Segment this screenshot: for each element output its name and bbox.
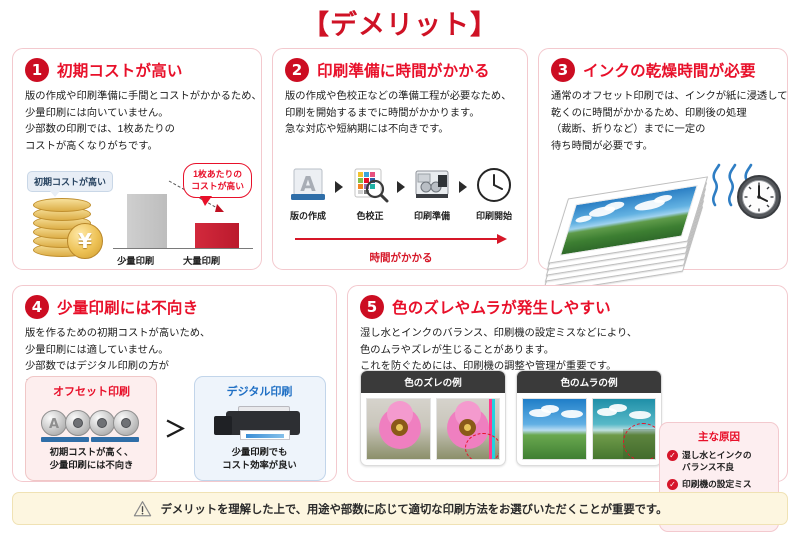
- wall-clock-icon: [735, 173, 783, 221]
- card-line: コスト効率が良い: [199, 459, 321, 472]
- panel-short-run: 4 少量印刷には不向き 版を作るための初期コストが高いため、 少量印刷には適して…: [12, 285, 337, 482]
- cause-line: 湿し水とインクの: [682, 449, 752, 461]
- color-proof-icon: [350, 165, 390, 205]
- footer-banner: デメリットを理解した上で、用途や部数に応じて適切な印刷方法をお選びいただくことが…: [12, 492, 788, 525]
- example-thumbs: [361, 393, 505, 465]
- body-line: コストが高くなりがちです。: [25, 139, 249, 156]
- body-line: 少量印刷には適していません。: [25, 343, 324, 360]
- offset-card-text: 初期コストが高く、 少量印刷には不向き: [30, 446, 152, 473]
- body-line: 通常のオフセット印刷では、インクが紙に浸透して: [551, 89, 775, 106]
- offset-card-title: オフセット印刷: [30, 383, 152, 399]
- digital-print-card: デジタル印刷 少量印刷でも コスト効率が良い: [194, 376, 326, 481]
- check-icon: ✓: [667, 479, 678, 490]
- flow-step: 印刷開始: [470, 165, 518, 222]
- page-title: 【デメリット】: [0, 0, 800, 44]
- cause-text: 湿し水とインクの バランス不良: [682, 449, 752, 474]
- panel-title: 印刷準備に時間がかかる: [317, 59, 490, 81]
- bar-label: 大量印刷: [183, 253, 220, 267]
- bar-small-run: [127, 194, 167, 248]
- flow-caption: 時間がかかる: [273, 250, 529, 265]
- panel-header: 3 インクの乾燥時間が必要: [539, 49, 787, 82]
- callout-line: コストが高い: [191, 181, 244, 191]
- yen-coin-icon: ¥: [67, 223, 103, 259]
- panel-initial-cost: 1 初期コストが高い 版の作成や印刷準備に手間とコストがかかるため、 少量印刷に…: [12, 48, 262, 270]
- body-line: 湿し水とインクのバランス、印刷機の設定ミスなどにより、: [360, 326, 775, 343]
- clock-icon: [474, 165, 514, 205]
- footer-text: デメリットを理解した上で、用途や部数に応じて適切な印刷方法をお選びいただくことが…: [161, 501, 668, 517]
- panel-title: インクの乾燥時間が必要: [583, 59, 756, 81]
- panel-title: 初期コストが高い: [57, 59, 183, 81]
- body-line: 少部数の印刷では、1枚あたりの: [25, 122, 249, 139]
- bar-large-run: [195, 223, 239, 248]
- panel-prep-time: 2 印刷準備に時間がかかる 版の作成や色校正などの準備工程が必要なため、 印刷を…: [272, 48, 528, 270]
- offset-print-card: オフセット印刷 A: [25, 376, 157, 481]
- comparison-row: オフセット印刷 A: [13, 376, 338, 481]
- cause-item: ✓ 印刷機の設定ミス: [667, 478, 771, 490]
- panel-header: 4 少量印刷には不向き: [13, 286, 336, 319]
- panel-header: 5 色のズレやムラが発生しやすい: [348, 286, 787, 319]
- coin-stack-icon: ¥: [31, 197, 107, 259]
- thumb-good: [522, 398, 587, 460]
- card-line: 初期コストが高く、: [30, 446, 152, 459]
- example-caption: 色のムラの例: [517, 371, 661, 393]
- body-line: 少部数ではデジタル印刷の方が: [25, 359, 324, 376]
- plate-icon: A: [288, 165, 328, 205]
- panel-number-badge: 3: [551, 58, 575, 82]
- panel-number-badge: 5: [360, 295, 384, 319]
- body-line: （裁断、折りなど）までに一定の: [551, 122, 775, 139]
- cost-bar-chart: 少量印刷 大量印刷 1枚あたりの コストが高い: [111, 167, 256, 271]
- press-icon: [412, 165, 452, 205]
- svg-text:A: A: [300, 172, 316, 196]
- panel-header: 2 印刷準備に時間がかかる: [273, 49, 527, 82]
- cause-line: 印刷機の設定ミス: [682, 478, 752, 490]
- cause-text: 印刷機の設定ミス: [682, 478, 752, 490]
- examples-visual: 色のズレの例: [348, 364, 789, 483]
- body-line: 版を作るための初期コストが高いため、: [25, 326, 324, 343]
- panel-body-text: 版の作成や色校正などの準備工程が必要なため、 印刷を開始するまでに時間がかかりま…: [273, 82, 527, 139]
- body-line: 色のムラやズレが生じることがあります。: [360, 343, 775, 360]
- example-card-misregistration: 色のズレの例: [360, 370, 506, 466]
- defect-highlight-circle: [623, 423, 657, 460]
- panel-title: 少量印刷には不向き: [57, 296, 198, 318]
- panel-header: 1 初期コストが高い: [13, 49, 261, 82]
- body-line: 版の作成や印刷準備に手間とコストがかかるため、: [25, 89, 249, 106]
- digital-card-text: 少量印刷でも コスト効率が良い: [199, 446, 321, 473]
- body-line: 少量印刷には向いていません。: [25, 106, 249, 123]
- flow-step-label: 版の作成: [284, 209, 332, 222]
- card-line: 少量印刷には不向き: [30, 459, 152, 472]
- body-line: 版の作成や色校正などの準備工程が必要なため、: [285, 89, 515, 106]
- thumb-bad: [592, 398, 657, 460]
- example-thumbs: [517, 393, 661, 465]
- thumb-bad: [436, 398, 501, 460]
- comparison-visual: オフセット印刷 A: [13, 376, 338, 483]
- body-line: 印刷を開始するまでに時間がかかります。: [285, 106, 515, 123]
- flow-steps: A 版の作成: [273, 161, 529, 222]
- time-arrow-icon: [295, 234, 507, 246]
- cause-item: ✓ 湿し水とインクの バランス不良: [667, 449, 771, 474]
- warning-triangle-icon: [133, 500, 152, 517]
- callout-line: 1枚あたりの: [193, 169, 242, 179]
- card-line: 少量印刷でも: [199, 446, 321, 459]
- flow-arrow-icon: [459, 181, 467, 193]
- panel-number-badge: 2: [285, 58, 309, 82]
- body-line: 乾くのに時間がかかるため、印刷後の処理: [551, 106, 775, 123]
- drying-visual: [539, 161, 789, 271]
- initial-cost-tag: 初期コストが高い: [27, 171, 113, 192]
- flow-arrow-icon: [335, 181, 343, 193]
- example-caption: 色のズレの例: [361, 371, 505, 393]
- panel-number-badge: 4: [25, 295, 49, 319]
- check-icon: ✓: [667, 450, 678, 461]
- greater-than-icon: ＞: [164, 412, 186, 444]
- flow-step: A 版の作成: [284, 165, 332, 222]
- example-card-unevenness: 色のムラの例: [516, 370, 662, 466]
- panel-body-text: 通常のオフセット印刷では、インクが紙に浸透して 乾くのに時間がかかるため、印刷後…: [539, 82, 787, 156]
- flow-step-label: 色校正: [346, 209, 394, 222]
- panel-number-badge: 1: [25, 58, 49, 82]
- flow-step-label: 印刷開始: [470, 209, 518, 222]
- per-sheet-callout: 1枚あたりの コストが高い: [183, 163, 252, 198]
- flow-step-label: 印刷準備: [408, 209, 456, 222]
- bar-label: 少量印刷: [117, 253, 154, 267]
- main-causes-title: 主な原因: [667, 429, 771, 444]
- process-flow-diagram: A 版の作成: [273, 161, 529, 271]
- print-stack-icon: [553, 179, 713, 261]
- panel-title: 色のズレやムラが発生しやすい: [392, 296, 611, 318]
- cause-line: バランス不良: [682, 461, 752, 473]
- defect-highlight-circle: [465, 433, 501, 460]
- panel-color-variance: 5 色のズレやムラが発生しやすい 湿し水とインクのバランス、印刷機の設定ミスなど…: [347, 285, 788, 482]
- digital-card-title: デジタル印刷: [199, 383, 321, 399]
- panel-body-text: 版の作成や印刷準備に手間とコストがかかるため、 少量印刷には向いていません。 少…: [13, 82, 261, 156]
- svg-text:A: A: [49, 417, 59, 432]
- cost-chart-visual: 初期コストが高い ¥ 少量印刷 大量印刷 1枚あたりの コストが高い: [13, 159, 263, 271]
- flow-step: 色校正: [346, 165, 394, 222]
- flow-arrow-icon: [397, 181, 405, 193]
- flow-step: 印刷準備: [408, 165, 456, 222]
- offset-roller-icon: A: [30, 402, 152, 446]
- body-line: 急な対応や短納期には不向きです。: [285, 122, 515, 139]
- inkjet-printer-icon: [199, 402, 321, 446]
- thumb-good: [366, 398, 431, 460]
- panel-drying-time: 3 インクの乾燥時間が必要 通常のオフセット印刷では、インクが紙に浸透して 乾く…: [538, 48, 788, 270]
- infographic-page: 【デメリット】 1 初期コストが高い 版の作成や印刷準備に手間とコストがかかるた…: [0, 0, 800, 533]
- body-line: 待ち時間が必要です。: [551, 139, 775, 156]
